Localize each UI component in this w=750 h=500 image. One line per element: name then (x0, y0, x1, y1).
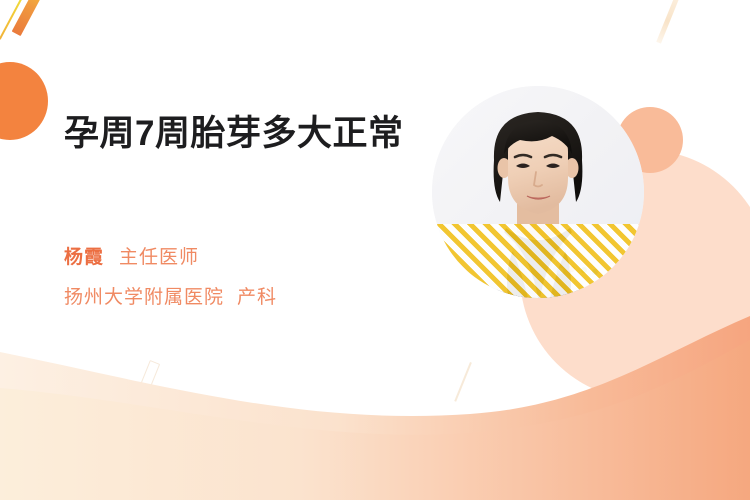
diagonal-stripe-orange-decoration (12, 0, 47, 36)
page-title: 孕周7周胎芽多大正常 (64, 112, 432, 157)
doctor-title: 主任医师 (119, 247, 199, 268)
diagonal-stripe-yellow-decoration (0, 0, 30, 40)
doctor-name-row: 杨霞主任医师 (64, 248, 464, 267)
doctor-info-card: 孕周7周胎芽多大正常 杨霞主任医师 扬州大学附属医院产科 (0, 0, 750, 500)
doctor-hospital-row: 扬州大学附属医院产科 (64, 288, 484, 307)
doctor-hospital: 扬州大学附属医院 (64, 287, 224, 308)
bottom-wave-decoration (0, 310, 750, 500)
doctor-department: 产科 (237, 287, 277, 308)
orange-circle-decoration (0, 62, 48, 140)
diagonal-stripe-faint-decoration (656, 0, 682, 44)
doctor-name: 杨霞 (64, 247, 104, 268)
